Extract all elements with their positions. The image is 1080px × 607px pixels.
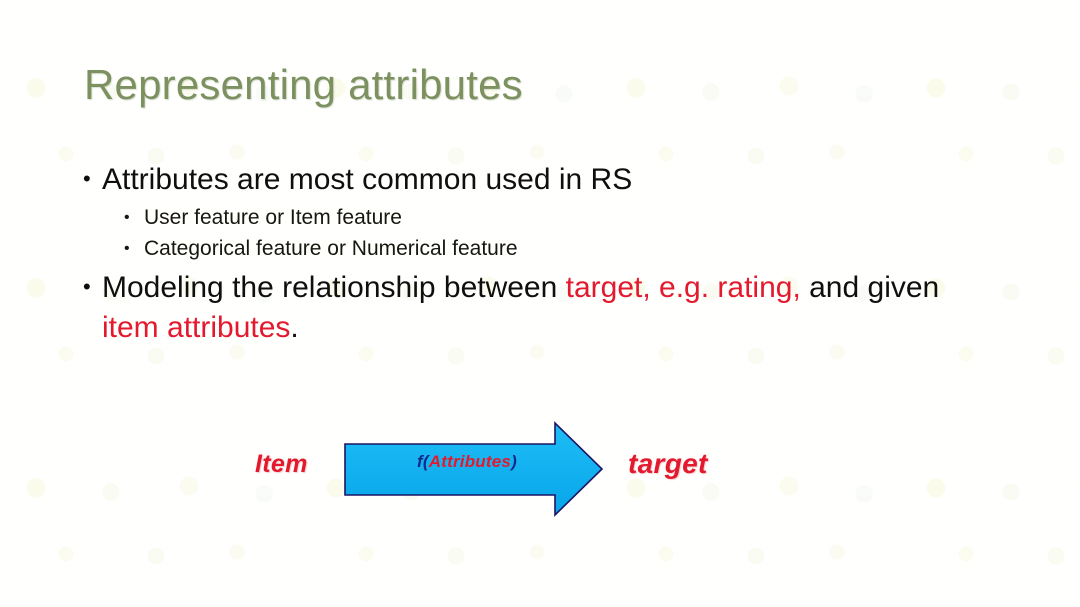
- sub-bullet-categorical-numerical-feature: • Categorical feature or Numerical featu…: [82, 234, 982, 264]
- bullet-marker: •: [124, 203, 130, 233]
- bullet-item-attributes: • Attributes are most common used in RS: [82, 160, 982, 200]
- diagram-label-target: target: [628, 448, 708, 480]
- sub-bullet-list: • User feature or Item feature • Categor…: [82, 203, 982, 265]
- arrow-polygon: [345, 423, 602, 515]
- slide-canvas: Representing attributes • Attributes are…: [0, 0, 1080, 607]
- sub-bullet-user-item-feature: • User feature or Item feature: [82, 203, 982, 233]
- diagram-label-item: Item: [255, 450, 308, 479]
- bullet-marker: •: [83, 268, 91, 306]
- bullet-text-plain-3: .: [290, 311, 298, 344]
- sub-bullet-text: User feature or Item feature: [144, 206, 402, 229]
- bullet-marker: •: [83, 160, 91, 198]
- page-title: Representing attributes: [84, 62, 523, 107]
- bullet-marker: •: [124, 234, 130, 264]
- bullet-text-highlight-target: target, e.g. rating,: [566, 271, 801, 304]
- bullet-list: • Attributes are most common used in RS …: [82, 160, 982, 348]
- sub-bullet-text: Categorical feature or Numerical feature: [144, 237, 518, 260]
- bullet-text-highlight-item-attributes: item attributes: [102, 311, 290, 344]
- bullet-item-modeling-relationship: • Modeling the relationship between targ…: [82, 268, 982, 347]
- bullet-text-plain-2: and given: [801, 271, 939, 304]
- right-arrow-shape: [336, 412, 616, 530]
- bullet-text-plain-1: Modeling the relationship between: [102, 271, 566, 304]
- bullet-text: Attributes are most common used in RS: [102, 163, 632, 196]
